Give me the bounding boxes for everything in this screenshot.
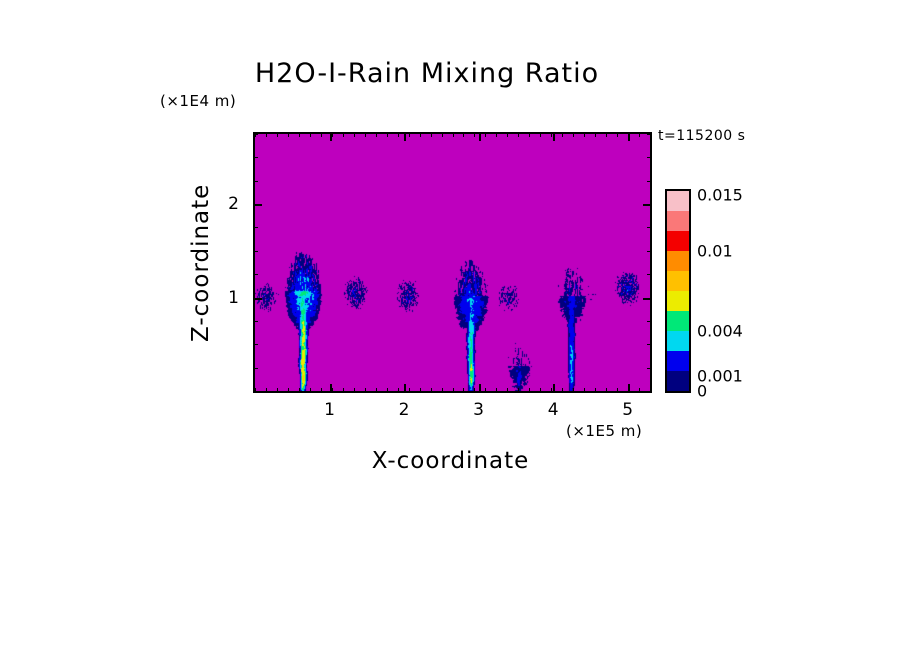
- colorbar-tick-label: 0.015: [697, 186, 743, 205]
- x-axis-tick-label: 4: [548, 400, 559, 420]
- colorbar: 0.0150.010.0040.0010: [665, 189, 691, 393]
- colorbar-band: [667, 291, 689, 311]
- x-axis-tick-label: 3: [473, 400, 484, 420]
- colorbar-band: [667, 251, 689, 271]
- y-axis-title: Z-coordinate: [188, 168, 214, 358]
- x-axis-minor-tick: [584, 388, 585, 393]
- x-axis-minor-tick: [409, 132, 410, 137]
- y-axis-unit-label: (×1E4 m): [160, 92, 236, 110]
- colorbar-band: [667, 351, 689, 371]
- x-axis-minor-tick: [474, 388, 475, 393]
- y-axis-minor-tick: [253, 368, 258, 369]
- plot-area: 1234512: [253, 132, 652, 393]
- y-axis-minor-tick: [253, 227, 258, 228]
- y-axis-minor-tick: [647, 157, 652, 158]
- x-axis-minor-tick: [409, 388, 410, 393]
- x-axis-minor-tick: [266, 388, 267, 393]
- colorbar-band: [667, 371, 689, 391]
- x-axis-minor-tick: [387, 132, 388, 137]
- colorbar-band: [667, 191, 689, 211]
- x-axis-minor-tick: [321, 132, 322, 137]
- x-axis-minor-tick: [529, 132, 530, 137]
- x-axis-minor-tick: [529, 388, 530, 393]
- x-axis-minor-tick: [365, 132, 366, 137]
- x-axis-minor-tick: [398, 388, 399, 393]
- x-axis-minor-tick: [376, 388, 377, 393]
- x-axis-minor-tick: [431, 388, 432, 393]
- x-axis-major-tick: [553, 384, 555, 393]
- x-axis-minor-tick: [463, 132, 464, 137]
- y-axis-minor-tick: [253, 134, 258, 135]
- x-axis-minor-tick: [288, 388, 289, 393]
- x-axis-minor-tick: [387, 388, 388, 393]
- x-axis-minor-tick: [277, 388, 278, 393]
- x-axis-minor-tick: [299, 132, 300, 137]
- x-axis-minor-tick: [496, 388, 497, 393]
- x-axis-tick-label: 2: [399, 400, 410, 420]
- y-axis-major-tick: [253, 298, 262, 300]
- x-axis-minor-tick: [617, 388, 618, 393]
- x-axis-minor-tick: [573, 132, 574, 137]
- y-axis-minor-tick: [253, 321, 258, 322]
- y-axis-minor-tick: [647, 227, 652, 228]
- x-axis-minor-tick: [639, 388, 640, 393]
- x-axis-major-tick: [479, 132, 481, 141]
- x-axis-minor-tick: [595, 388, 596, 393]
- x-axis-minor-tick: [365, 388, 366, 393]
- colorbar-tick-label: 0.004: [697, 322, 743, 341]
- x-axis-minor-tick: [595, 132, 596, 137]
- x-axis-minor-tick: [507, 388, 508, 393]
- x-axis-tick-label: 1: [324, 400, 335, 420]
- y-axis-minor-tick: [647, 368, 652, 369]
- x-axis-minor-tick: [617, 132, 618, 137]
- chart-title-text: H2O-I-Rain Mixing Ratio: [255, 58, 599, 89]
- x-axis-minor-tick: [507, 132, 508, 137]
- x-axis-major-tick: [553, 132, 555, 141]
- x-axis-minor-tick: [442, 388, 443, 393]
- y-axis-tick-label: 2: [228, 194, 239, 214]
- x-axis-minor-tick: [420, 388, 421, 393]
- y-axis-minor-tick: [647, 251, 652, 252]
- y-axis-tick-label: 1: [228, 288, 239, 308]
- x-axis-minor-tick: [354, 132, 355, 137]
- colorbar-band: [667, 231, 689, 251]
- colorbar-band: [667, 331, 689, 351]
- x-axis-minor-tick: [463, 388, 464, 393]
- x-axis-minor-tick: [321, 388, 322, 393]
- x-axis-minor-tick: [288, 132, 289, 137]
- x-axis-major-tick: [628, 384, 630, 393]
- x-axis-major-tick: [404, 132, 406, 141]
- x-axis-major-tick: [330, 384, 332, 393]
- y-axis-minor-tick: [253, 391, 258, 392]
- x-axis-minor-tick: [496, 132, 497, 137]
- x-axis-minor-tick: [562, 132, 563, 137]
- rain-mixing-ratio-field: [255, 134, 650, 391]
- chart-title: H2O-I-Rain Mixing Ratio: [0, 58, 904, 89]
- x-axis-tick-label: 5: [622, 400, 633, 420]
- x-axis-minor-tick: [266, 132, 267, 137]
- x-axis-minor-tick: [639, 132, 640, 137]
- x-axis-major-tick: [628, 132, 630, 141]
- x-axis-minor-tick: [453, 132, 454, 137]
- colorbar-tick-label: 0: [697, 382, 707, 401]
- x-axis-minor-tick: [453, 388, 454, 393]
- x-axis-minor-tick: [332, 388, 333, 393]
- y-axis-major-tick: [643, 298, 652, 300]
- y-axis-minor-tick: [647, 134, 652, 135]
- x-axis-minor-tick: [485, 132, 486, 137]
- x-axis-minor-tick: [299, 388, 300, 393]
- x-axis-minor-tick: [420, 132, 421, 137]
- colorbar-band: [667, 311, 689, 331]
- x-axis-minor-tick: [398, 132, 399, 137]
- x-axis-minor-tick: [376, 132, 377, 137]
- y-axis-minor-tick: [253, 181, 258, 182]
- y-axis-minor-tick: [647, 391, 652, 392]
- colorbar-band: [667, 271, 689, 291]
- x-axis-major-tick: [404, 384, 406, 393]
- x-axis-minor-tick: [606, 132, 607, 137]
- x-axis-minor-tick: [540, 388, 541, 393]
- x-axis-unit-label: (×1E5 m): [566, 422, 642, 440]
- x-axis-minor-tick: [474, 132, 475, 137]
- x-axis-minor-tick: [606, 388, 607, 393]
- x-axis-minor-tick: [343, 132, 344, 137]
- y-axis-minor-tick: [647, 321, 652, 322]
- x-axis-title: X-coordinate: [253, 448, 648, 474]
- x-axis-minor-tick: [431, 132, 432, 137]
- x-axis-major-tick: [479, 384, 481, 393]
- x-axis-minor-tick: [485, 388, 486, 393]
- x-axis-minor-tick: [332, 132, 333, 137]
- x-axis-minor-tick: [310, 132, 311, 137]
- x-axis-minor-tick: [343, 388, 344, 393]
- x-axis-minor-tick: [551, 388, 552, 393]
- x-axis-minor-tick: [540, 132, 541, 137]
- x-axis-major-tick: [330, 132, 332, 141]
- y-axis-minor-tick: [647, 181, 652, 182]
- y-axis-minor-tick: [253, 157, 258, 158]
- colorbar-tick-label: 0.01: [697, 242, 733, 261]
- x-axis-minor-tick: [584, 132, 585, 137]
- y-axis-minor-tick: [253, 274, 258, 275]
- x-axis-minor-tick: [573, 388, 574, 393]
- y-axis-major-tick: [643, 204, 652, 206]
- y-axis-minor-tick: [253, 251, 258, 252]
- x-axis-minor-tick: [551, 132, 552, 137]
- timestamp-label: t=115200 s: [658, 128, 745, 144]
- x-axis-minor-tick: [354, 388, 355, 393]
- x-axis-minor-tick: [442, 132, 443, 137]
- y-axis-minor-tick: [253, 344, 258, 345]
- colorbar-band: [667, 211, 689, 231]
- y-axis-minor-tick: [647, 344, 652, 345]
- x-axis-minor-tick: [562, 388, 563, 393]
- y-axis-major-tick: [253, 204, 262, 206]
- x-axis-minor-tick: [518, 132, 519, 137]
- x-axis-minor-tick: [518, 388, 519, 393]
- x-axis-minor-tick: [277, 132, 278, 137]
- x-axis-minor-tick: [310, 388, 311, 393]
- y-axis-minor-tick: [647, 274, 652, 275]
